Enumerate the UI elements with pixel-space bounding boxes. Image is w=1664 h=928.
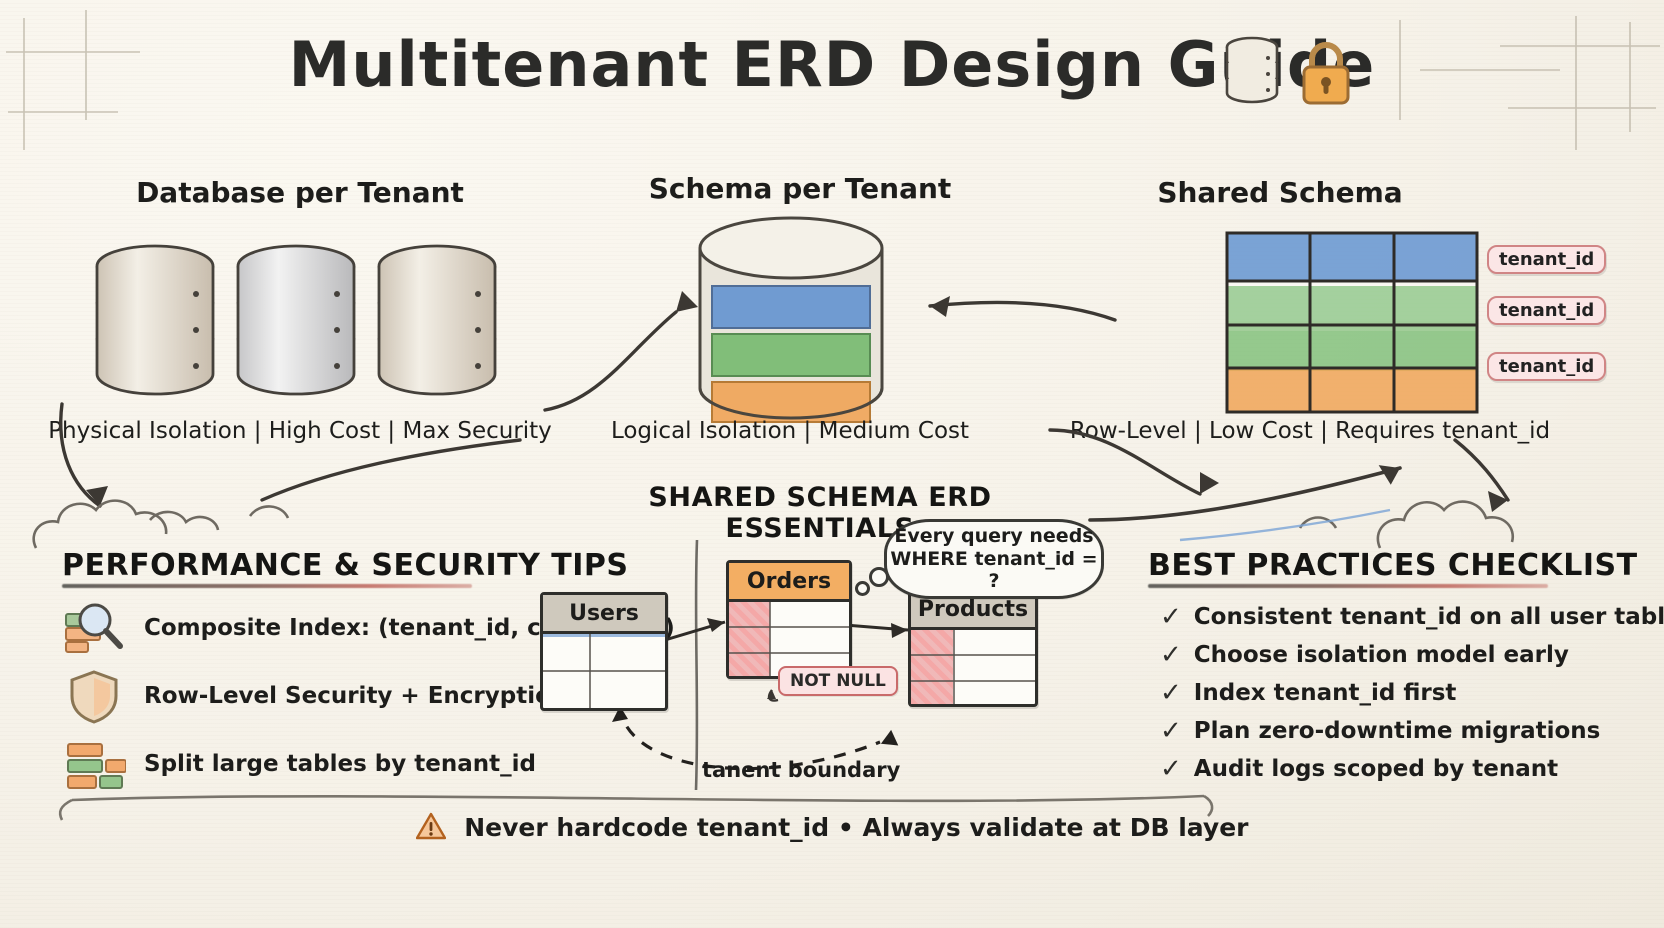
tenant-id-callout-1: tenant_id xyxy=(1487,245,1606,274)
tips-panel-title: PERFORMANCE & SECURITY TIPS xyxy=(62,548,629,583)
row-divider xyxy=(729,626,849,628)
erd-entity-products[interactable]: Products xyxy=(908,588,1038,707)
caption-schema-per-tenant: Logical Isolation | Medium Cost xyxy=(580,418,1000,444)
erd-entity-orders[interactable]: Orders xyxy=(726,560,852,679)
tenant-boundary-label: tanent boundary xyxy=(702,758,900,782)
tenant-id-callout-3: tenant_id xyxy=(1487,352,1606,381)
checklist-panel-rule xyxy=(1148,584,1548,588)
erd-entity-users-header: Users xyxy=(543,595,665,634)
page-title: Multitenant ERD Design Guide xyxy=(283,28,1382,101)
checklist-item-1-text: Consistent tenant_id on all user tables xyxy=(1194,604,1664,630)
footer-banner: Never hardcode tenant_id • Always valida… xyxy=(0,812,1664,846)
title-icon-group xyxy=(1220,34,1354,110)
row-divider xyxy=(729,652,849,654)
check-icon: ✓ xyxy=(1160,756,1182,782)
tip-text-split-tables: Split large tables by tenant_id xyxy=(144,751,536,777)
col-divider xyxy=(953,630,955,704)
tenant-id-column-highlight xyxy=(911,630,953,704)
page-title-wrap: Multitenant ERD Design Guide xyxy=(0,28,1664,101)
checklist-item-5-text: Audit logs scoped by tenant xyxy=(1194,756,1558,782)
tip-row-split-tables: Split large tables by tenant_id xyxy=(62,736,536,792)
tips-panel-rule xyxy=(62,584,472,588)
tip-text-row-level-security: Row-Level Security + Encryption xyxy=(144,683,567,709)
tenant-id-callout-2: tenant_id xyxy=(1487,296,1606,325)
checklist-panel-title: BEST PRACTICES CHECKLIST xyxy=(1148,548,1638,583)
checklist-item-4-text: Plan zero-downtime migrations xyxy=(1194,718,1601,744)
erd-entity-orders-header: Orders xyxy=(729,563,849,602)
checklist-item-1: ✓ Consistent tenant_id on all user table… xyxy=(1160,604,1664,630)
page-title-text: Multitenant ERD Design Guide xyxy=(289,28,1376,101)
check-icon: ✓ xyxy=(1160,604,1182,630)
check-icon: ✓ xyxy=(1160,642,1182,668)
split-tables-icon xyxy=(62,736,126,792)
not-null-badge: NOT NULL xyxy=(778,666,898,696)
checklist-item-4: ✓ Plan zero-downtime migrations xyxy=(1160,718,1600,744)
col-divider xyxy=(769,602,771,676)
shield-icon xyxy=(62,668,126,724)
warning-triangle-icon xyxy=(416,812,446,846)
checklist-item-2: ✓ Choose isolation model early xyxy=(1160,642,1569,668)
tip-row-row-level-security: Row-Level Security + Encryption xyxy=(62,668,567,724)
checklist-item-3: ✓ Index tenant_id first xyxy=(1160,680,1456,706)
thought-bubble-dot-small xyxy=(855,581,870,596)
thought-bubble-line-1: Every query needs xyxy=(894,525,1093,547)
lock-icon xyxy=(1298,36,1354,108)
row-divider xyxy=(911,654,1035,656)
database-icon xyxy=(1220,34,1284,110)
erd-entity-products-body xyxy=(911,630,1035,704)
check-icon: ✓ xyxy=(1160,680,1182,706)
erd-entity-users-body xyxy=(543,634,665,708)
footer-text: Never hardcode tenant_id • Always valida… xyxy=(464,813,1248,842)
thought-bubble-line-2: WHERE tenant_id = ? xyxy=(890,548,1097,593)
checklist-item-5: ✓ Audit logs scoped by tenant xyxy=(1160,756,1558,782)
thought-bubble-text: Every query needs WHERE tenant_id = ? xyxy=(887,525,1101,593)
section-heading-shared-schema: Shared Schema xyxy=(1090,176,1470,209)
erd-entity-users[interactable]: Users xyxy=(540,592,668,711)
caption-database-per-tenant: Physical Isolation | High Cost | Max Sec… xyxy=(40,418,560,444)
tenant-id-column-highlight xyxy=(729,602,770,676)
section-heading-schema-per-tenant: Schema per Tenant xyxy=(590,172,1010,205)
magnifier-index-icon xyxy=(62,600,126,656)
thought-bubble-dot-large xyxy=(869,567,889,587)
row-divider xyxy=(543,634,665,637)
caption-shared-schema: Row-Level | Low Cost | Requires tenant_i… xyxy=(1060,418,1560,444)
row-divider xyxy=(911,680,1035,682)
checklist-item-2-text: Choose isolation model early xyxy=(1194,642,1569,668)
thought-bubble: Every query needs WHERE tenant_id = ? xyxy=(884,519,1104,599)
checklist-item-3-text: Index tenant_id first xyxy=(1194,680,1457,706)
row-divider xyxy=(543,670,665,672)
erd-entity-orders-body xyxy=(729,602,849,676)
section-heading-database-per-tenant: Database per Tenant xyxy=(100,176,500,209)
col-divider xyxy=(589,634,591,708)
check-icon: ✓ xyxy=(1160,718,1182,744)
